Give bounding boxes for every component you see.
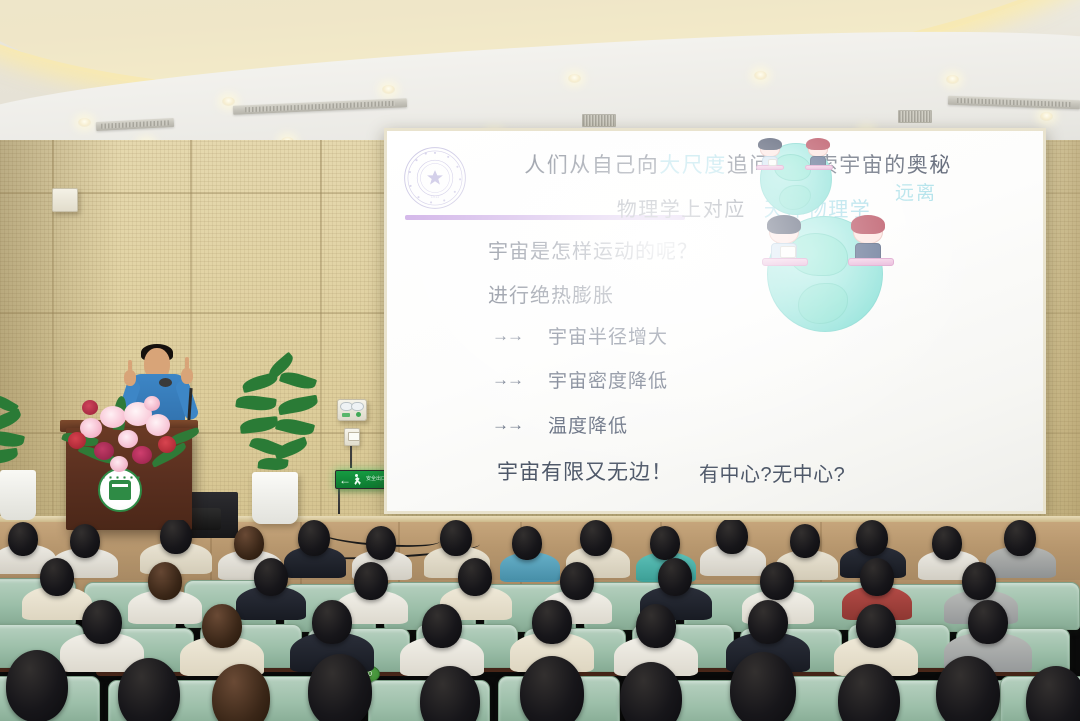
audience-head [730, 652, 796, 721]
flower-blossom [118, 430, 138, 448]
audience-head [234, 526, 264, 560]
audience-head [532, 600, 572, 644]
slide-title: 人们从自己向大尺度追问以探索宇宙的奥秘 [387, 149, 1043, 179]
audience-head [160, 520, 192, 554]
audience-head [440, 520, 472, 556]
exit-sign: ← 安全出口 [335, 470, 391, 489]
audience-head [512, 526, 542, 560]
double-arrow-icon: →→ [492, 415, 522, 435]
downlight-icon [222, 97, 235, 106]
projection-screen: 1911 人们从自己向大尺度追问以探索宇宙的奥秘 物理学上对应天体物理学 宇宙是… [387, 131, 1043, 511]
desk-large-right [848, 258, 894, 266]
audience-head [70, 524, 100, 558]
audience-head [148, 562, 182, 600]
laptop-large [780, 246, 796, 258]
plant-leaf [0, 448, 19, 466]
slide-footer-right: 有中心?无中心? [699, 458, 845, 487]
audience-area: 2排10 2排10 2排10 [0, 520, 1080, 721]
plant-leaf [275, 416, 315, 439]
badge-book-icon [109, 480, 131, 500]
wall-seam [320, 140, 322, 530]
flower-blossom [68, 432, 86, 449]
flower-arrangement [58, 388, 208, 474]
plant-leaf [257, 456, 288, 471]
audience-head [312, 600, 352, 644]
desk-large-left [762, 258, 808, 266]
exit-arrow-icon: ← [339, 474, 351, 486]
audience-head [6, 650, 68, 721]
audience-head [856, 604, 896, 648]
audience-head [760, 562, 794, 600]
audience-head [790, 524, 820, 558]
audience-head [560, 562, 594, 600]
person-hair [758, 138, 781, 150]
downlight-icon [1040, 112, 1053, 121]
flower-blossom [146, 414, 170, 436]
audience-head [82, 600, 122, 644]
audience-head [580, 520, 612, 556]
exit-sign-stem [338, 488, 340, 514]
audience-head [308, 654, 372, 721]
air-vent-square [582, 114, 616, 127]
audience-head [202, 604, 242, 648]
person-hair [851, 215, 886, 234]
plant-leaf [241, 372, 279, 393]
running-person-icon [353, 473, 364, 486]
slide-bullet-3-text: 温度降低 [548, 411, 628, 438]
cartoon-person-small-right [808, 141, 828, 167]
plant-leaf [0, 428, 25, 450]
audience-head [962, 562, 996, 600]
audience-head [118, 658, 180, 721]
audience-head [520, 656, 584, 721]
potted-plant-right [236, 358, 320, 480]
audience-head [936, 656, 1000, 721]
audience-head [8, 522, 38, 556]
downlight-icon [78, 118, 91, 127]
plant-leaf [279, 369, 317, 392]
audience-head [254, 558, 288, 596]
audience-head [856, 520, 888, 556]
laptop-small [768, 159, 777, 166]
slide-footer-left: 宇宙有限又无边！ [497, 456, 673, 486]
person-hair [806, 138, 829, 150]
slide-bullet-2-text: 宇宙密度降低 [548, 366, 668, 393]
audience-head [458, 558, 492, 596]
plant-leaf [277, 395, 319, 416]
flower-blossom [110, 456, 128, 472]
slide-bullet-2: →→ 宇宙密度降低 [492, 366, 668, 393]
audience-head [636, 604, 676, 648]
screen-glare [387, 131, 1043, 511]
air-vent-square [898, 110, 932, 123]
slide-subtitle: 物理学上对应天体物理学 [387, 193, 1043, 222]
audience-head [354, 562, 388, 600]
audience-head [366, 526, 396, 560]
audience-head [40, 558, 74, 596]
slide-illustration-label: 远离 [895, 178, 937, 205]
slide-question: 宇宙是怎样运动的呢？ [488, 235, 698, 264]
slide-bullet-1-text: 宇宙半径增大 [548, 322, 668, 349]
wall-right-column [1040, 140, 1080, 530]
slide-bullet-3: →→ 温度降低 [492, 411, 628, 438]
emergency-light-led [356, 412, 361, 417]
audience-head [968, 600, 1008, 644]
microphone-head [159, 378, 172, 387]
flower-blossom [132, 446, 152, 464]
exit-sign-label: 安全出口 [366, 477, 386, 482]
school-badge-icon [98, 468, 142, 512]
slide-subtitle-text: 物理学上对应 [617, 199, 746, 221]
plant-leaf [235, 393, 277, 412]
downlight-icon [382, 85, 395, 94]
flower-blossom [82, 400, 98, 415]
flower-blossom [144, 396, 160, 411]
slide-title-highlight: 大尺度 [659, 154, 727, 177]
downlight-icon [568, 74, 581, 83]
audience-head [658, 558, 692, 596]
flower-blossom [94, 442, 114, 460]
speaker-hand-right [181, 368, 193, 384]
thermostat-stem [350, 446, 352, 468]
cartoon-person-large-right [853, 219, 883, 261]
speaker-finger-right [185, 357, 189, 369]
downlight-icon [946, 75, 959, 84]
plant-leaf [273, 437, 309, 461]
wall-thermostat[interactable] [344, 428, 360, 446]
audience-head [1004, 520, 1036, 556]
audience-head [860, 558, 894, 596]
audience-head [932, 526, 962, 560]
audience-head [298, 520, 330, 556]
flower-blossom [158, 436, 176, 453]
audience-head [650, 526, 680, 560]
wall-control-box[interactable] [52, 188, 78, 212]
speaker-hand-left [124, 370, 136, 386]
audience-head [748, 600, 788, 644]
double-arrow-icon: →→ [492, 370, 522, 390]
plant-leaf [239, 416, 278, 434]
double-arrow-icon: →→ [492, 326, 522, 346]
flower-blossom [100, 406, 126, 428]
desk-small-right [805, 165, 833, 170]
slide-title-pre: 人们从自己向 [524, 154, 659, 177]
slide-bullet-1: →→ 宇宙半径增大 [492, 322, 668, 349]
potted-plant-left [0, 378, 44, 478]
lecture-hall-photo: ← 安全出口 1911 人们从自己向大尺度追问以探索宇宙的奥秘 [0, 0, 1080, 721]
downlight-icon [754, 71, 767, 80]
speaker-finger-left [128, 360, 132, 372]
slide-statement: 进行绝热膨胀 [488, 279, 614, 308]
audience-head [716, 520, 748, 554]
audience-head [422, 604, 462, 648]
emergency-light-led [342, 413, 350, 417]
person-hair [767, 215, 802, 234]
emergency-light [337, 399, 367, 421]
